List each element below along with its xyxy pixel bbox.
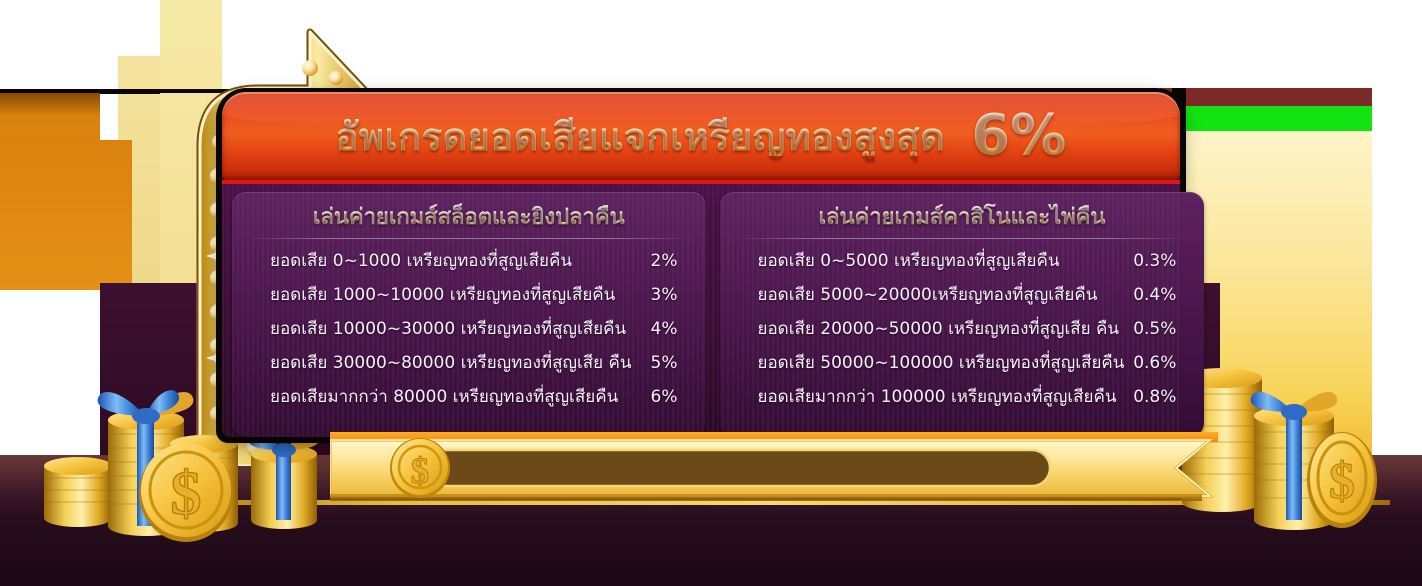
rebate-label: ยอดเสีย 5000~20000เหรียญทองที่สูญเสียคืน	[736, 281, 1125, 308]
svg-text:$: $	[171, 460, 202, 528]
panel-divider	[248, 238, 690, 239]
panel-divider	[736, 238, 1189, 239]
rebate-row: ยอดเสีย 20000~50000 เหรียญทองที่สูญเสีย …	[736, 315, 1189, 349]
rebate-value: 4%	[632, 319, 690, 339]
rebate-label: ยอดเสีย 50000~100000 เหรียญทองที่สูญเสีย…	[736, 349, 1125, 376]
rebate-label: ยอดเสีย 10000~30000 เหรียญทองที่สูญเสียค…	[248, 315, 632, 342]
rebate-row: ยอดเสีย 5000~20000เหรียญทองที่สูญเสียคืน…	[736, 281, 1189, 315]
dollar-coin-icon: $	[390, 438, 450, 498]
rebate-row: ยอดเสีย 1000~10000 เหรียญทองที่สูญเสียคื…	[248, 281, 690, 315]
rebate-label: ยอดเสีย 1000~10000 เหรียญทองที่สูญเสียคื…	[248, 281, 632, 308]
rebate-rows: ยอดเสีย 0~5000 เหรียญทองที่สูญเสียคืน 0.…	[736, 243, 1189, 417]
rebate-row: ยอดเสีย 30000~80000 เหรียญทองที่สูญเสีย …	[248, 349, 690, 383]
rebate-value: 6%	[632, 387, 690, 407]
rebate-value: 0.4%	[1124, 285, 1188, 305]
panel-heading: เล่นค่ายเกมส์สล็อตและยิงปลาคืน	[248, 202, 690, 238]
rebate-value: 5%	[632, 353, 690, 373]
rebate-row: ยอดเสีย 0~5000 เหรียญทองที่สูญเสียคืน 0.…	[736, 247, 1189, 281]
background-orange-block-b	[0, 140, 132, 290]
panel-heading: เล่นค่ายเกมส์คาสิโนและไพ่คืน	[736, 202, 1189, 238]
panels-container: เล่นค่ายเกมส์สล็อตและยิงปลาคืน ยอดเสีย 0…	[222, 184, 1180, 437]
rebate-label: ยอดเสีย 0~1000 เหรียญทองที่สูญเสียคืน	[248, 247, 632, 274]
rebate-rows: ยอดเสีย 0~1000 เหรียญทองที่สูญเสียคืน 2%…	[248, 243, 690, 417]
rebate-row: ยอดเสียมากกว่า 80000 เหรียญทองที่สูญเสีย…	[248, 383, 690, 417]
rebate-value: 0.6%	[1124, 353, 1188, 373]
rebate-label: ยอดเสียมากกว่า 100000 เหรียญทองที่สูญเสี…	[736, 383, 1125, 410]
rebate-value: 0.3%	[1124, 251, 1188, 271]
promo-banner: $	[0, 0, 1422, 586]
panel-slots-fishing: เล่นค่ายเกมส์สล็อตและยิงปลาคืน ยอดเสีย 0…	[232, 192, 706, 437]
title-bar: อัพเกรดยอดเสียแจกเหรียญทองสูงสุด 6%	[222, 92, 1180, 180]
rebate-label: ยอดเสีย 30000~80000 เหรียญทองที่สูญเสีย …	[248, 349, 632, 376]
background-green-bar	[1186, 106, 1372, 133]
panel-casino-cards: เล่นค่ายเกมส์คาสิโนและไพ่คืน ยอดเสีย 0~5…	[720, 192, 1205, 437]
rebate-row: ยอดเสียมากกว่า 100000 เหรียญทองที่สูญเสี…	[736, 383, 1189, 417]
rebate-row: ยอดเสีย 0~1000 เหรียญทองที่สูญเสียคืน 2%	[248, 247, 690, 281]
rebate-label: ยอดเสีย 20000~50000 เหรียญทองที่สูญเสีย …	[736, 315, 1125, 342]
headline-percent: 6%	[971, 108, 1066, 164]
rebate-value: 2%	[632, 251, 690, 271]
rebate-label: ยอดเสีย 0~5000 เหรียญทองที่สูญเสียคืน	[736, 247, 1125, 274]
svg-text:$: $	[1329, 453, 1355, 510]
page-title: อัพเกรดยอดเสียแจกเหรียญทองสูงสุด	[336, 116, 946, 156]
rebate-row: ยอดเสีย 10000~30000 เหรียญทองที่สูญเสียค…	[248, 315, 690, 349]
gold-ribbon-bar: $	[330, 432, 1240, 504]
svg-text:$: $	[411, 451, 430, 492]
promo-card: อัพเกรดยอดเสียแจกเหรียญทองสูงสุด 6% เล่น…	[222, 92, 1180, 437]
rebate-value: 3%	[632, 285, 690, 305]
rebate-value: 0.8%	[1124, 387, 1188, 407]
rebate-value: 0.5%	[1124, 319, 1188, 339]
rebate-label: ยอดเสียมากกว่า 80000 เหรียญทองที่สูญเสีย…	[248, 383, 632, 410]
rebate-row: ยอดเสีย 50000~100000 เหรียญทองที่สูญเสีย…	[736, 349, 1189, 383]
dollar-coin-icon: $	[1307, 432, 1377, 528]
